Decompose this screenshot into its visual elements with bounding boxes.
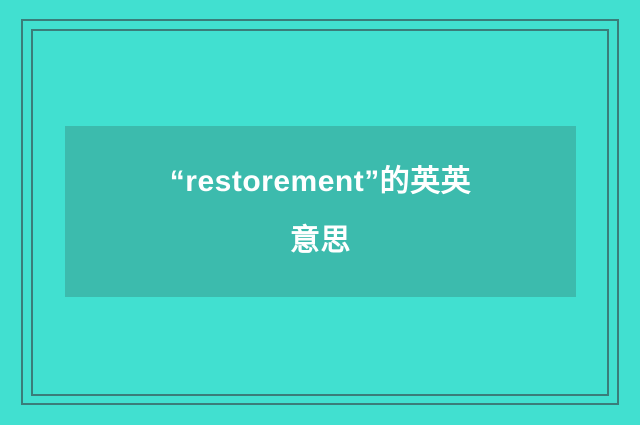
page-title: “restorement”的英英意思 xyxy=(165,153,476,270)
page-canvas: “restorement”的英英意思 xyxy=(0,0,640,425)
title-panel: “restorement”的英英意思 xyxy=(65,126,576,297)
